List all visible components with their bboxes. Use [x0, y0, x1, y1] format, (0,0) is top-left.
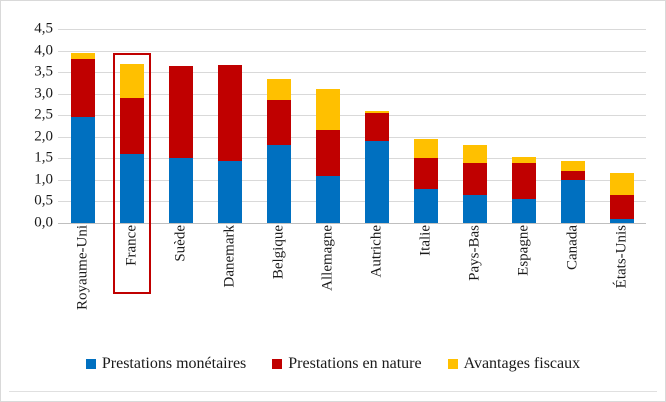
- bar-belgique[interactable]: [267, 79, 291, 223]
- x-axis-label: Canada: [561, 225, 585, 335]
- bar-segment: [561, 171, 585, 180]
- x-axis-label-text: Canada: [565, 225, 580, 270]
- bar-pays-bas[interactable]: [463, 145, 487, 223]
- bar-segment: [512, 163, 536, 200]
- legend-item[interactable]: Prestations monétaires: [86, 356, 246, 372]
- x-axis-label-text: Danemark: [222, 225, 237, 287]
- legend-swatch-icon: [272, 359, 282, 369]
- bar-segment: [316, 130, 340, 175]
- gridline: [58, 180, 646, 181]
- bar-segment: [267, 100, 291, 145]
- plot-area: [58, 29, 646, 223]
- bar-segment: [169, 66, 193, 159]
- bar-segment: [561, 180, 585, 223]
- x-axis-label: Allemagne: [316, 225, 340, 335]
- x-axis-label-text: Suède: [173, 225, 188, 262]
- x-axis-category-labels: Royaume-UniFranceSuèdeDanemarkBelgiqueAl…: [58, 225, 646, 335]
- bar-italie[interactable]: [414, 139, 438, 223]
- y-axis-tick-label: 4,0: [3, 43, 53, 58]
- gridline: [58, 51, 646, 52]
- gridline: [58, 72, 646, 73]
- chart-legend: Prestations monétairesPrestations en nat…: [1, 356, 665, 372]
- y-axis-tick-label: 1,5: [3, 151, 53, 166]
- bar-segment: [267, 145, 291, 223]
- gridline: [58, 137, 646, 138]
- gridline: [58, 94, 646, 95]
- bar-danemark[interactable]: [218, 65, 242, 223]
- legend-label: Prestations en nature: [288, 356, 421, 372]
- x-axis-label: Royaume-Uni: [71, 225, 95, 335]
- legend-swatch-icon: [448, 359, 458, 369]
- y-axis-tick-label: 3,5: [3, 65, 53, 80]
- x-axis-label: Suède: [169, 225, 193, 335]
- bar-segment: [463, 163, 487, 195]
- y-axis-tick-label: 2,0: [3, 129, 53, 144]
- bar-segment: [414, 158, 438, 188]
- x-axis-label: Pays-Bas: [463, 225, 487, 335]
- bar-segment: [610, 219, 634, 223]
- bar-segment: [610, 173, 634, 195]
- x-axis-label: Italie: [414, 225, 438, 335]
- y-axis-tick-label: 2,5: [3, 108, 53, 123]
- bar-segment: [71, 59, 95, 117]
- bar-autriche[interactable]: [365, 111, 389, 223]
- x-axis-label-text: États-Unis: [614, 225, 629, 288]
- y-axis-tick-label: 0,5: [3, 194, 53, 209]
- bar-segment: [120, 98, 144, 154]
- gridline: [58, 29, 646, 30]
- x-axis-label-text: Espagne: [516, 225, 531, 276]
- x-axis-label-text: France: [124, 225, 139, 266]
- bar-segment: [561, 161, 585, 172]
- bar-france[interactable]: [120, 64, 144, 223]
- y-axis-tick-label: 0,0: [3, 216, 53, 231]
- bar-segment: [512, 199, 536, 223]
- bar-segment: [267, 79, 291, 101]
- gridline: [58, 115, 646, 116]
- bar-segment: [218, 161, 242, 224]
- bar-segment: [316, 176, 340, 223]
- legend-label: Avantages fiscaux: [464, 356, 581, 372]
- bar-segment: [120, 64, 144, 98]
- legend-divider: [9, 391, 657, 392]
- y-axis-tick-label: 3,0: [3, 86, 53, 101]
- bar-segment: [365, 113, 389, 141]
- bar-segment: [120, 154, 144, 223]
- bar-segment: [316, 89, 340, 130]
- bar-segment: [610, 195, 634, 219]
- x-axis-line: [58, 223, 646, 224]
- bar-tats-unis[interactable]: [610, 173, 634, 223]
- bar-segment: [365, 141, 389, 223]
- bar-segment: [218, 65, 242, 161]
- x-axis-label: Espagne: [512, 225, 536, 335]
- legend-item[interactable]: Avantages fiscaux: [448, 356, 581, 372]
- x-axis-label-text: Autriche: [369, 225, 384, 277]
- legend-label: Prestations monétaires: [102, 356, 246, 372]
- x-axis-label-text: Italie: [418, 225, 433, 256]
- x-axis-label-text: Royaume-Uni: [75, 225, 90, 310]
- bar-segment: [463, 145, 487, 163]
- bar-segment: [414, 139, 438, 158]
- x-axis-label-text: Pays-Bas: [467, 225, 482, 281]
- legend-swatch-icon: [86, 359, 96, 369]
- x-axis-label: États-Unis: [610, 225, 634, 335]
- bar-su-de[interactable]: [169, 66, 193, 223]
- chart-figure: 0,00,51,01,52,02,53,03,54,04,5 Royaume-U…: [0, 0, 666, 402]
- bar-segment: [71, 117, 95, 223]
- y-axis-tick-label: 4,5: [3, 22, 53, 37]
- bar-canada[interactable]: [561, 161, 585, 223]
- x-axis-label-text: Belgique: [271, 225, 286, 279]
- x-axis-label: Danemark: [218, 225, 242, 335]
- bar-allemagne[interactable]: [316, 89, 340, 223]
- x-axis-label: Autriche: [365, 225, 389, 335]
- legend-item[interactable]: Prestations en nature: [272, 356, 421, 372]
- gridline: [58, 201, 646, 202]
- x-axis-label: Belgique: [267, 225, 291, 335]
- y-axis: 0,00,51,01,52,02,53,03,54,04,5: [1, 29, 53, 223]
- bar-espagne[interactable]: [512, 157, 536, 223]
- bar-royaume-uni[interactable]: [71, 53, 95, 223]
- bar-segment: [463, 195, 487, 223]
- x-axis-label-text: Allemagne: [320, 225, 335, 291]
- gridline: [58, 158, 646, 159]
- x-axis-label: France: [120, 225, 144, 335]
- bar-segment: [169, 158, 193, 223]
- bar-segment: [414, 189, 438, 223]
- y-axis-tick-label: 1,0: [3, 172, 53, 187]
